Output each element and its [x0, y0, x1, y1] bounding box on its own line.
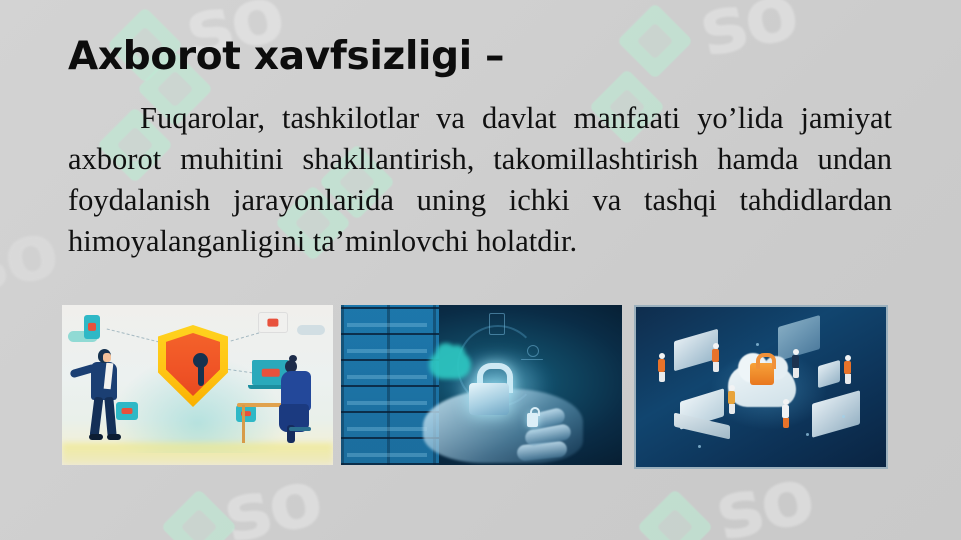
person-shoe [89, 434, 103, 440]
ui-glyph [527, 345, 539, 357]
person-face [103, 353, 111, 362]
folder-lock-icon [116, 402, 138, 420]
decor-dot [842, 415, 845, 418]
watermark-text: so [0, 205, 64, 313]
page-title: Axborot xavfsizligi – [68, 36, 504, 79]
body-paragraph: Fuqarolar, tashkilotlar va davlat manfaa… [68, 98, 892, 262]
padlock-small-icon [527, 413, 538, 427]
decor-floor [62, 443, 333, 465]
person-figure [782, 399, 789, 428]
watermark-text: so [692, 0, 805, 75]
server-rack-highlights [347, 305, 427, 465]
watermark-diamond-icon [637, 489, 713, 540]
cloud-icon [297, 325, 325, 335]
desk-leg [242, 405, 245, 443]
ui-glyph [521, 359, 543, 360]
document-lock-icon [258, 312, 288, 333]
keyhole-icon [193, 353, 208, 368]
padlock-icon [750, 363, 774, 385]
person-shoe [107, 434, 121, 440]
ui-glyph [489, 313, 505, 335]
person-figure [658, 353, 665, 382]
illustration-shield-office [62, 305, 333, 465]
screen-panel [818, 360, 840, 388]
isometric-network-security [634, 305, 888, 469]
chair [289, 427, 311, 431]
watermark-diamond-icon [617, 3, 693, 79]
image-strip [62, 305, 884, 465]
person-figure [844, 355, 851, 384]
connector-line [107, 328, 160, 342]
photo-padlock-in-hand [341, 305, 622, 465]
person-leg [90, 397, 104, 438]
padlock-icon [469, 383, 509, 415]
watermark-text: so [216, 453, 329, 540]
person-figure [712, 343, 719, 372]
slide-canvas: so so so so so Axborot xavfsizligi – Fuq… [0, 0, 961, 540]
decor-dot [756, 343, 759, 346]
shield-inner [166, 333, 220, 396]
cloud-icon [429, 351, 471, 379]
folder-lock-icon [236, 405, 256, 422]
decor-dot [698, 445, 701, 448]
watermark-diamond-icon [161, 489, 237, 540]
phone-lock-icon [84, 315, 100, 339]
person-figure [728, 385, 735, 414]
person-figure [792, 349, 799, 378]
decor-dot [806, 433, 809, 436]
